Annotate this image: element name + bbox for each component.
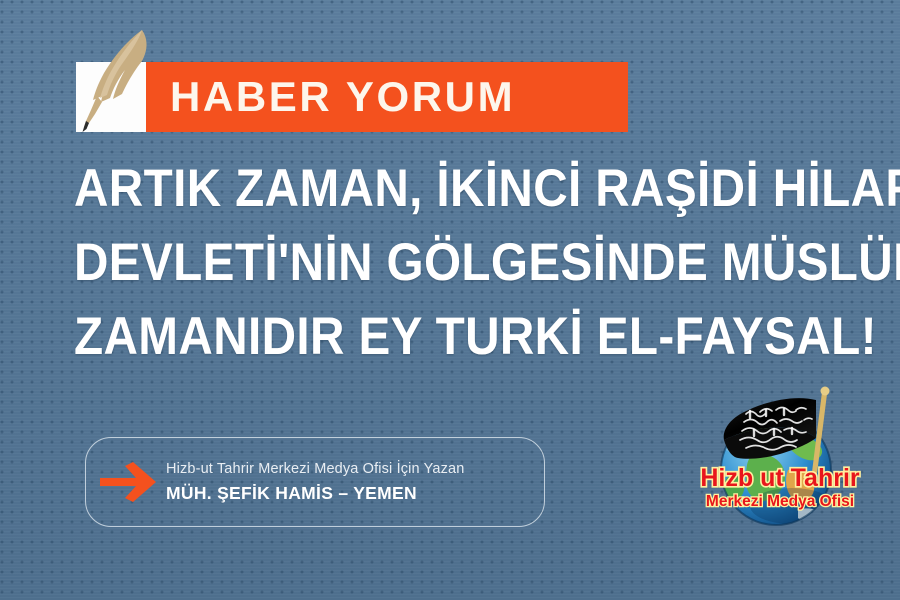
hizb-ut-tahrir-logo: Hizb ut Tahrir Merkezi Medya Ofisi [688,378,873,538]
poster-canvas: HABER YORUM ARTIK ZAMAN, İKİNCİ RAŞİDİ H… [0,0,900,600]
attribution-author: MÜH. ŞEFİK HAMİS – YEMEN [166,481,464,505]
attribution-text: Hizb-ut Tahrir Merkezi Medya Ofisi İçin … [166,459,464,505]
masthead: HABER YORUM [76,62,628,132]
arrow-right-icon [100,462,156,502]
logo-text-line2: Merkezi Medya Ofisi [706,493,854,510]
headline-line-1: ARTIK ZAMAN, İKİNCİ RAŞİDİ HİLAFET [74,152,794,226]
attribution-eyebrow: Hizb-ut Tahrir Merkezi Medya Ofisi İçin … [166,459,464,479]
masthead-title: HABER YORUM [170,76,515,118]
quill-icon-box [76,62,146,132]
attribution-box: Hizb-ut Tahrir Merkezi Medya Ofisi İçin … [85,437,545,527]
logo-text-line1: Hizb ut Tahrir [700,464,860,492]
headline-line-3: ZAMANIDIR EY TURKİ EL-FAYSAL! [74,300,794,374]
quill-feather-icon [74,26,160,138]
masthead-bar: HABER YORUM [146,62,628,132]
headline: ARTIK ZAMAN, İKİNCİ RAŞİDİ HİLAFET DEVLE… [74,152,874,374]
headline-line-2: DEVLETİ'NİN GÖLGESİNDE MÜSLÜMANLARIN [74,226,794,300]
logo-artwork: Hizb ut Tahrir Merkezi Medya Ofisi [688,378,873,538]
attribution-inner: Hizb-ut Tahrir Merkezi Medya Ofisi İçin … [86,438,544,526]
